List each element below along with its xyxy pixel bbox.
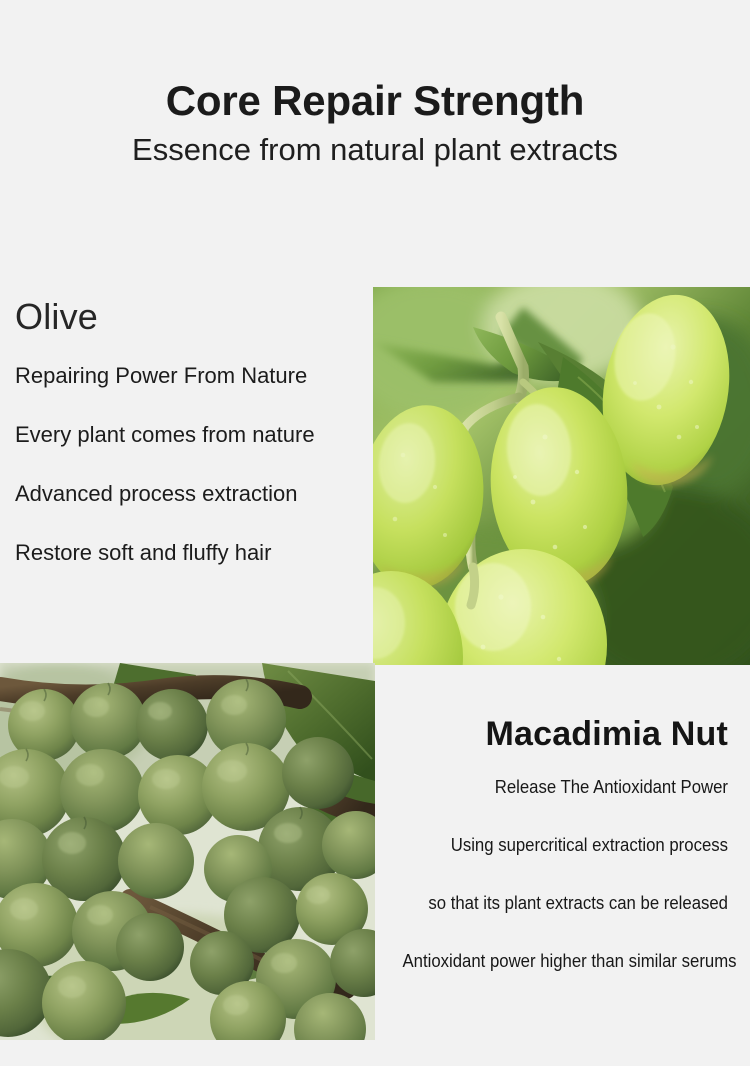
- header-block: Core Repair Strength Essence from natura…: [0, 0, 750, 168]
- olive-photo-graphic: [373, 287, 750, 665]
- macadamia-photo-graphic: [0, 663, 375, 1040]
- olive-feature-list: Repairing Power From Nature Every plant …: [15, 363, 365, 566]
- product-detail-page: Core Repair Strength Essence from natura…: [0, 0, 750, 1066]
- macadamia-heading: Macadimia Nut: [378, 714, 728, 754]
- olive-feature-item: Restore soft and fluffy hair: [15, 540, 365, 566]
- macadamia-feature-item: Using supercritical extraction process: [403, 834, 729, 856]
- macadamia-feature-list: Release The Antioxidant Power Using supe…: [378, 776, 728, 972]
- page-title: Core Repair Strength: [0, 0, 750, 124]
- olive-feature-item: Repairing Power From Nature: [15, 363, 365, 389]
- olive-heading: Olive: [15, 296, 365, 338]
- olive-feature-item: Every plant comes from nature: [15, 422, 365, 448]
- page-subtitle: Essence from natural plant extracts: [0, 124, 750, 168]
- olive-photo: [373, 287, 750, 665]
- macadamia-section-text: Macadimia Nut Release The Antioxidant Po…: [378, 714, 728, 972]
- macadamia-feature-item: Release The Antioxidant Power: [403, 776, 729, 798]
- macadamia-feature-item: Antioxidant power higher than similar se…: [403, 950, 729, 972]
- olive-feature-item: Advanced process extraction: [15, 481, 365, 507]
- macadamia-feature-item: so that its plant extracts can be releas…: [403, 892, 729, 914]
- olive-section-text: Olive Repairing Power From Nature Every …: [15, 296, 365, 566]
- macadamia-photo: [0, 663, 375, 1040]
